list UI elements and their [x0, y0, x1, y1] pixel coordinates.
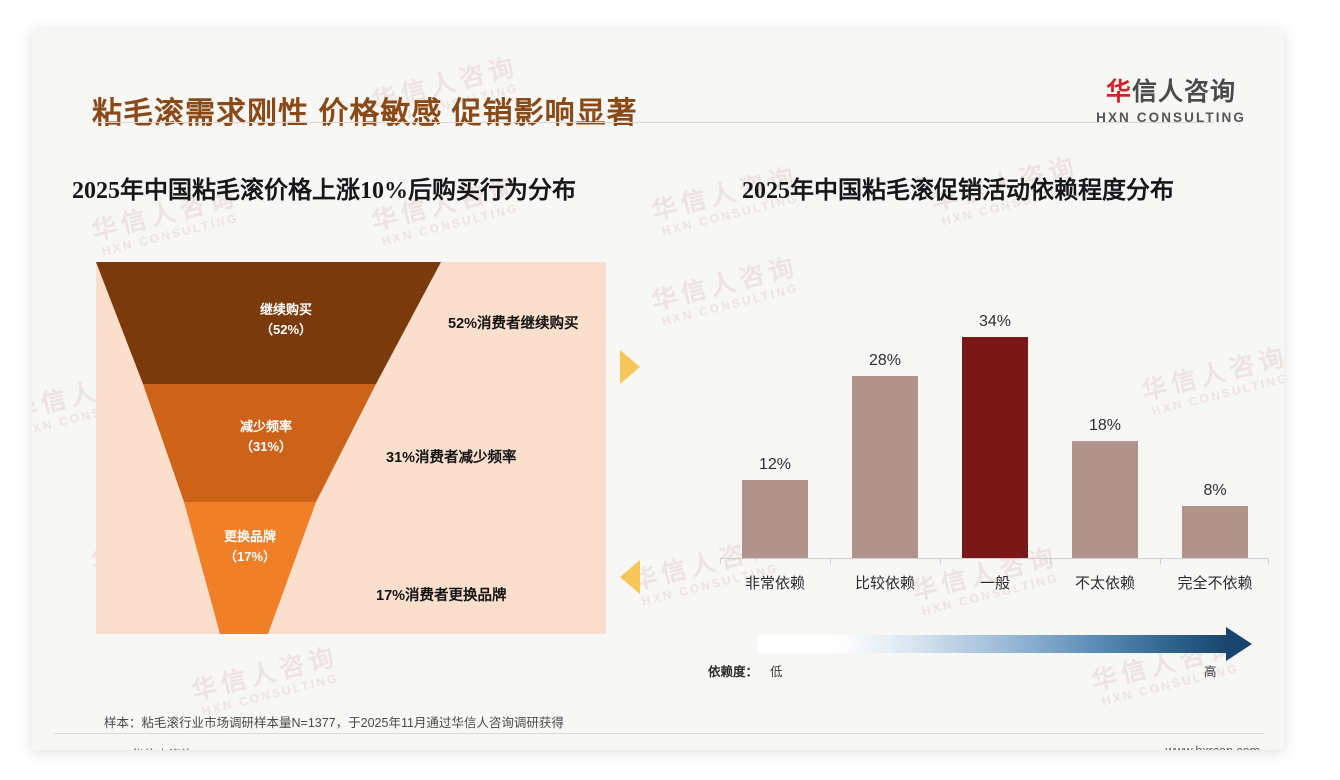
funnel-segment-3-label: 更换品牌 （17%）: [170, 527, 330, 566]
watermark-cn: 华信人咨询: [189, 642, 342, 706]
sample-footnote: 样本：粘毛滚行业市场调研样本量N=1377，于2025年11月通过华信人咨询调研…: [104, 712, 564, 731]
funnel-note-1: 52%消费者继续购买: [448, 312, 579, 333]
bar-quite-dependent: [852, 376, 918, 558]
copyright-text: ©2026.1 HXR华信人咨询: [54, 744, 194, 750]
x-axis-tick: [1268, 558, 1269, 564]
bar-column: 28%: [830, 300, 940, 558]
x-axis-tick: [940, 558, 941, 564]
funnel-chart: 继续购买 （52%） 减少频率 （31%） 更换品牌 （17%） 52%消费者继…: [96, 262, 606, 634]
logo-rest-chars: 信人咨询: [1132, 78, 1236, 106]
logo-accent-char: 华: [1106, 78, 1132, 106]
legend-title: 依赖度：: [708, 661, 758, 680]
left-chart-title: 2025年中国粘毛滚价格上涨10%后购买行为分布: [72, 170, 576, 205]
bar-column: 8%: [1160, 300, 1270, 558]
footer-divider: [54, 733, 1264, 734]
bar-value-label: 28%: [830, 352, 940, 370]
bar-chart: 12% 28% 34% 18% 8%: [708, 300, 1268, 600]
watermark-en: HXN CONSULTING: [376, 200, 525, 250]
gradient-bar: [758, 635, 1228, 653]
right-chart-title: 2025年中国粘毛滚促销活动依赖程度分布: [742, 170, 1174, 205]
x-axis-label: 非常依赖: [720, 572, 830, 593]
funnel-note-3: 17%消费者更换品牌: [376, 584, 507, 605]
x-axis-label: 完全不依赖: [1160, 572, 1270, 593]
funnel-note-2: 31%消费者减少频率: [386, 446, 517, 467]
x-axis-label: 一般: [940, 572, 1050, 593]
header-divider: [94, 122, 1214, 123]
bar-very-dependent: [742, 480, 808, 558]
slide-card: 华信人咨询HXN CONSULTING 华信人咨询HXN CONSULTING …: [32, 30, 1284, 750]
bar-not-dependent-at-all: [1182, 506, 1248, 558]
bar-value-label: 18%: [1050, 417, 1160, 435]
bar-column: 34%: [940, 300, 1050, 558]
funnel-segment-2-label: 减少频率 （31%）: [186, 417, 346, 456]
x-axis-tick: [1050, 558, 1051, 564]
slide-header: 粘毛滚需求刚性 价格敏感 促销影响显著 华信人咨询 HXN CONSULTING: [32, 30, 1284, 128]
play-triangle-left-icon: [620, 560, 640, 594]
website-url: www.hxrcon.com: [1166, 744, 1260, 750]
legend-high-label: 高: [1204, 661, 1217, 680]
x-axis-tick: [830, 558, 831, 564]
bar-value-label: 12%: [720, 456, 830, 474]
legend-low-label: 低: [770, 661, 783, 680]
gradient-arrow-head-icon: [1226, 627, 1252, 661]
bar-not-very-dependent: [1072, 441, 1138, 558]
bar-value-label: 34%: [940, 313, 1050, 331]
bar-value-label: 8%: [1160, 482, 1270, 500]
x-axis-tick: [720, 558, 721, 564]
page-title: 粘毛滚需求刚性 价格敏感 促销影响显著: [92, 88, 638, 132]
logo-chinese-name: 华信人咨询: [1096, 80, 1246, 105]
funnel-segment-3: [184, 502, 316, 634]
bar-average: [962, 337, 1028, 558]
x-axis-label: 比较依赖: [830, 572, 940, 593]
bar-plot-area: 12% 28% 34% 18% 8%: [720, 300, 1268, 558]
dependency-gradient-legend: 依赖度： 低 高: [708, 625, 1268, 685]
x-axis-line: [720, 558, 1268, 559]
bar-column: 12%: [720, 300, 830, 558]
watermark-en: HXN CONSULTING: [96, 210, 245, 260]
funnel-segment-1-label: 继续购买 （52%）: [206, 300, 366, 339]
company-logo: 华信人咨询 HXN CONSULTING: [1096, 80, 1246, 125]
bar-column: 18%: [1050, 300, 1160, 558]
x-axis-label: 不太依赖: [1050, 572, 1160, 593]
play-triangle-right-icon: [620, 350, 640, 384]
x-axis-tick: [1160, 558, 1161, 564]
